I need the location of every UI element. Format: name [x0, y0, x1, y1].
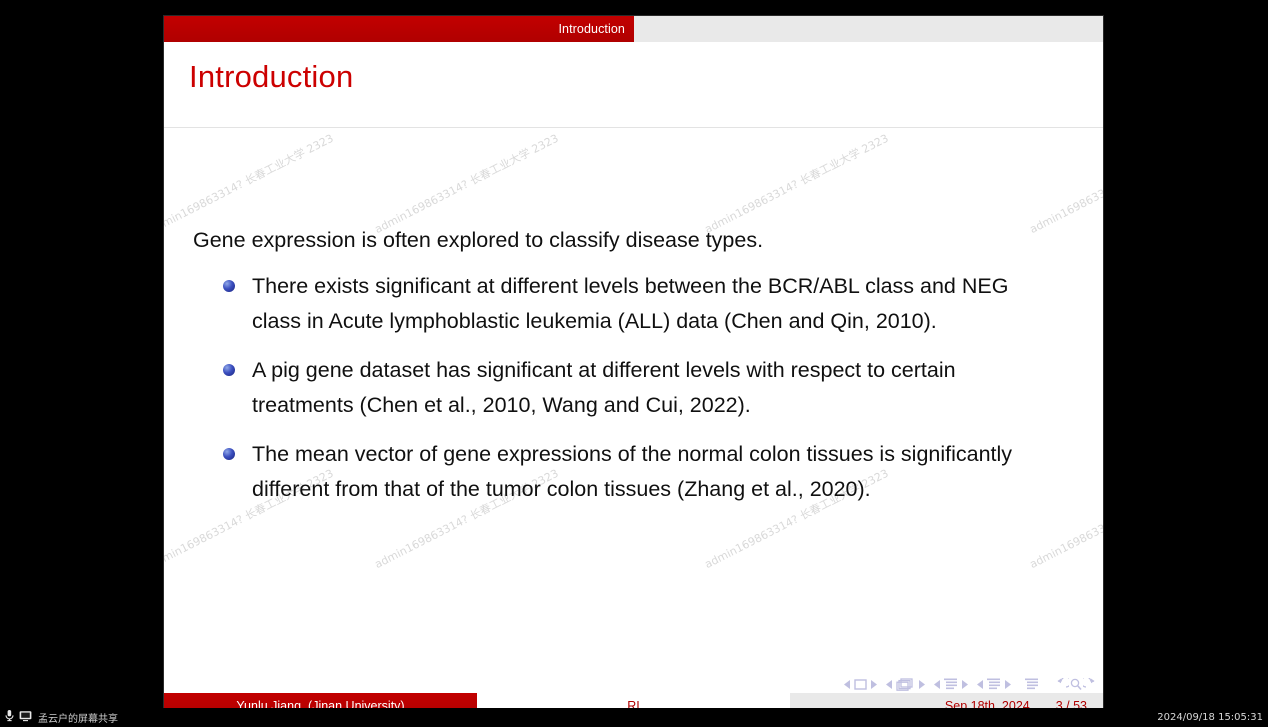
forward-icon[interactable]: [1083, 678, 1097, 691]
frame-next-icon[interactable]: [918, 680, 925, 689]
subsection-nav-group: [934, 678, 968, 691]
headline-section-tab[interactable]: Introduction: [164, 16, 634, 42]
list-item-text: There exists significant at different le…: [252, 274, 1008, 333]
monitor-icon[interactable]: [19, 709, 32, 727]
frame-nav-group: [886, 678, 925, 691]
lead-paragraph: Gene expression is often explored to cla…: [193, 228, 763, 253]
slide-next-icon[interactable]: [870, 680, 877, 689]
slide-current-icon[interactable]: [854, 679, 867, 690]
beamer-navigation-symbols[interactable]: [844, 678, 1097, 691]
section-next-icon[interactable]: [1004, 680, 1011, 689]
microphone-icon[interactable]: [4, 709, 15, 727]
subsection-next-icon[interactable]: [961, 680, 968, 689]
slide-nav-group: [844, 679, 877, 690]
section-current-icon[interactable]: [987, 678, 1001, 691]
back-icon[interactable]: [1055, 678, 1069, 691]
list-item: A pig gene dataset has significant at di…: [220, 353, 1060, 423]
desktop-taskbar: 孟云户的屏幕共享 2024/09/18 15:05:31: [0, 708, 1268, 727]
slide-body: Gene expression is often explored to cla…: [164, 128, 1103, 678]
section-prev-icon[interactable]: [977, 680, 984, 689]
subsection-prev-icon[interactable]: [934, 680, 941, 689]
bullet-list: There exists significant at different le…: [220, 269, 1060, 521]
beamer-headline-bar: Introduction: [164, 16, 1103, 42]
bullet-dot-icon: [223, 280, 235, 292]
presentation-slide: Introduction Introduction admin169863314…: [164, 16, 1103, 718]
subsection-current-icon[interactable]: [944, 678, 958, 691]
bullet-dot-icon: [223, 448, 235, 460]
headline-section-label: Introduction: [558, 22, 625, 36]
headline-empty-area: [634, 16, 1103, 42]
taskbar-left-group: 孟云户的屏幕共享: [0, 709, 118, 727]
screen-share-label: 孟云户的屏幕共享: [38, 710, 118, 725]
slide-prev-icon[interactable]: [844, 680, 851, 689]
list-item-text: The mean vector of gene expressions of t…: [252, 442, 1012, 501]
presentation-current-icon[interactable]: [1025, 678, 1039, 691]
search-icon[interactable]: [1069, 678, 1083, 691]
frame-prev-icon[interactable]: [886, 680, 893, 689]
page-title: Introduction: [189, 59, 353, 95]
list-item-text: A pig gene dataset has significant at di…: [252, 358, 956, 417]
frame-current-icon[interactable]: [896, 678, 915, 691]
frame-title-area: Introduction: [164, 42, 1103, 128]
list-item: There exists significant at different le…: [220, 269, 1060, 339]
list-item: The mean vector of gene expressions of t…: [220, 437, 1060, 507]
bullet-dot-icon: [223, 364, 235, 376]
section-nav-group: [977, 678, 1011, 691]
taskbar-clock: 2024/09/18 15:05:31: [1157, 708, 1263, 727]
desktop-screen: Introduction Introduction admin169863314…: [0, 0, 1268, 727]
